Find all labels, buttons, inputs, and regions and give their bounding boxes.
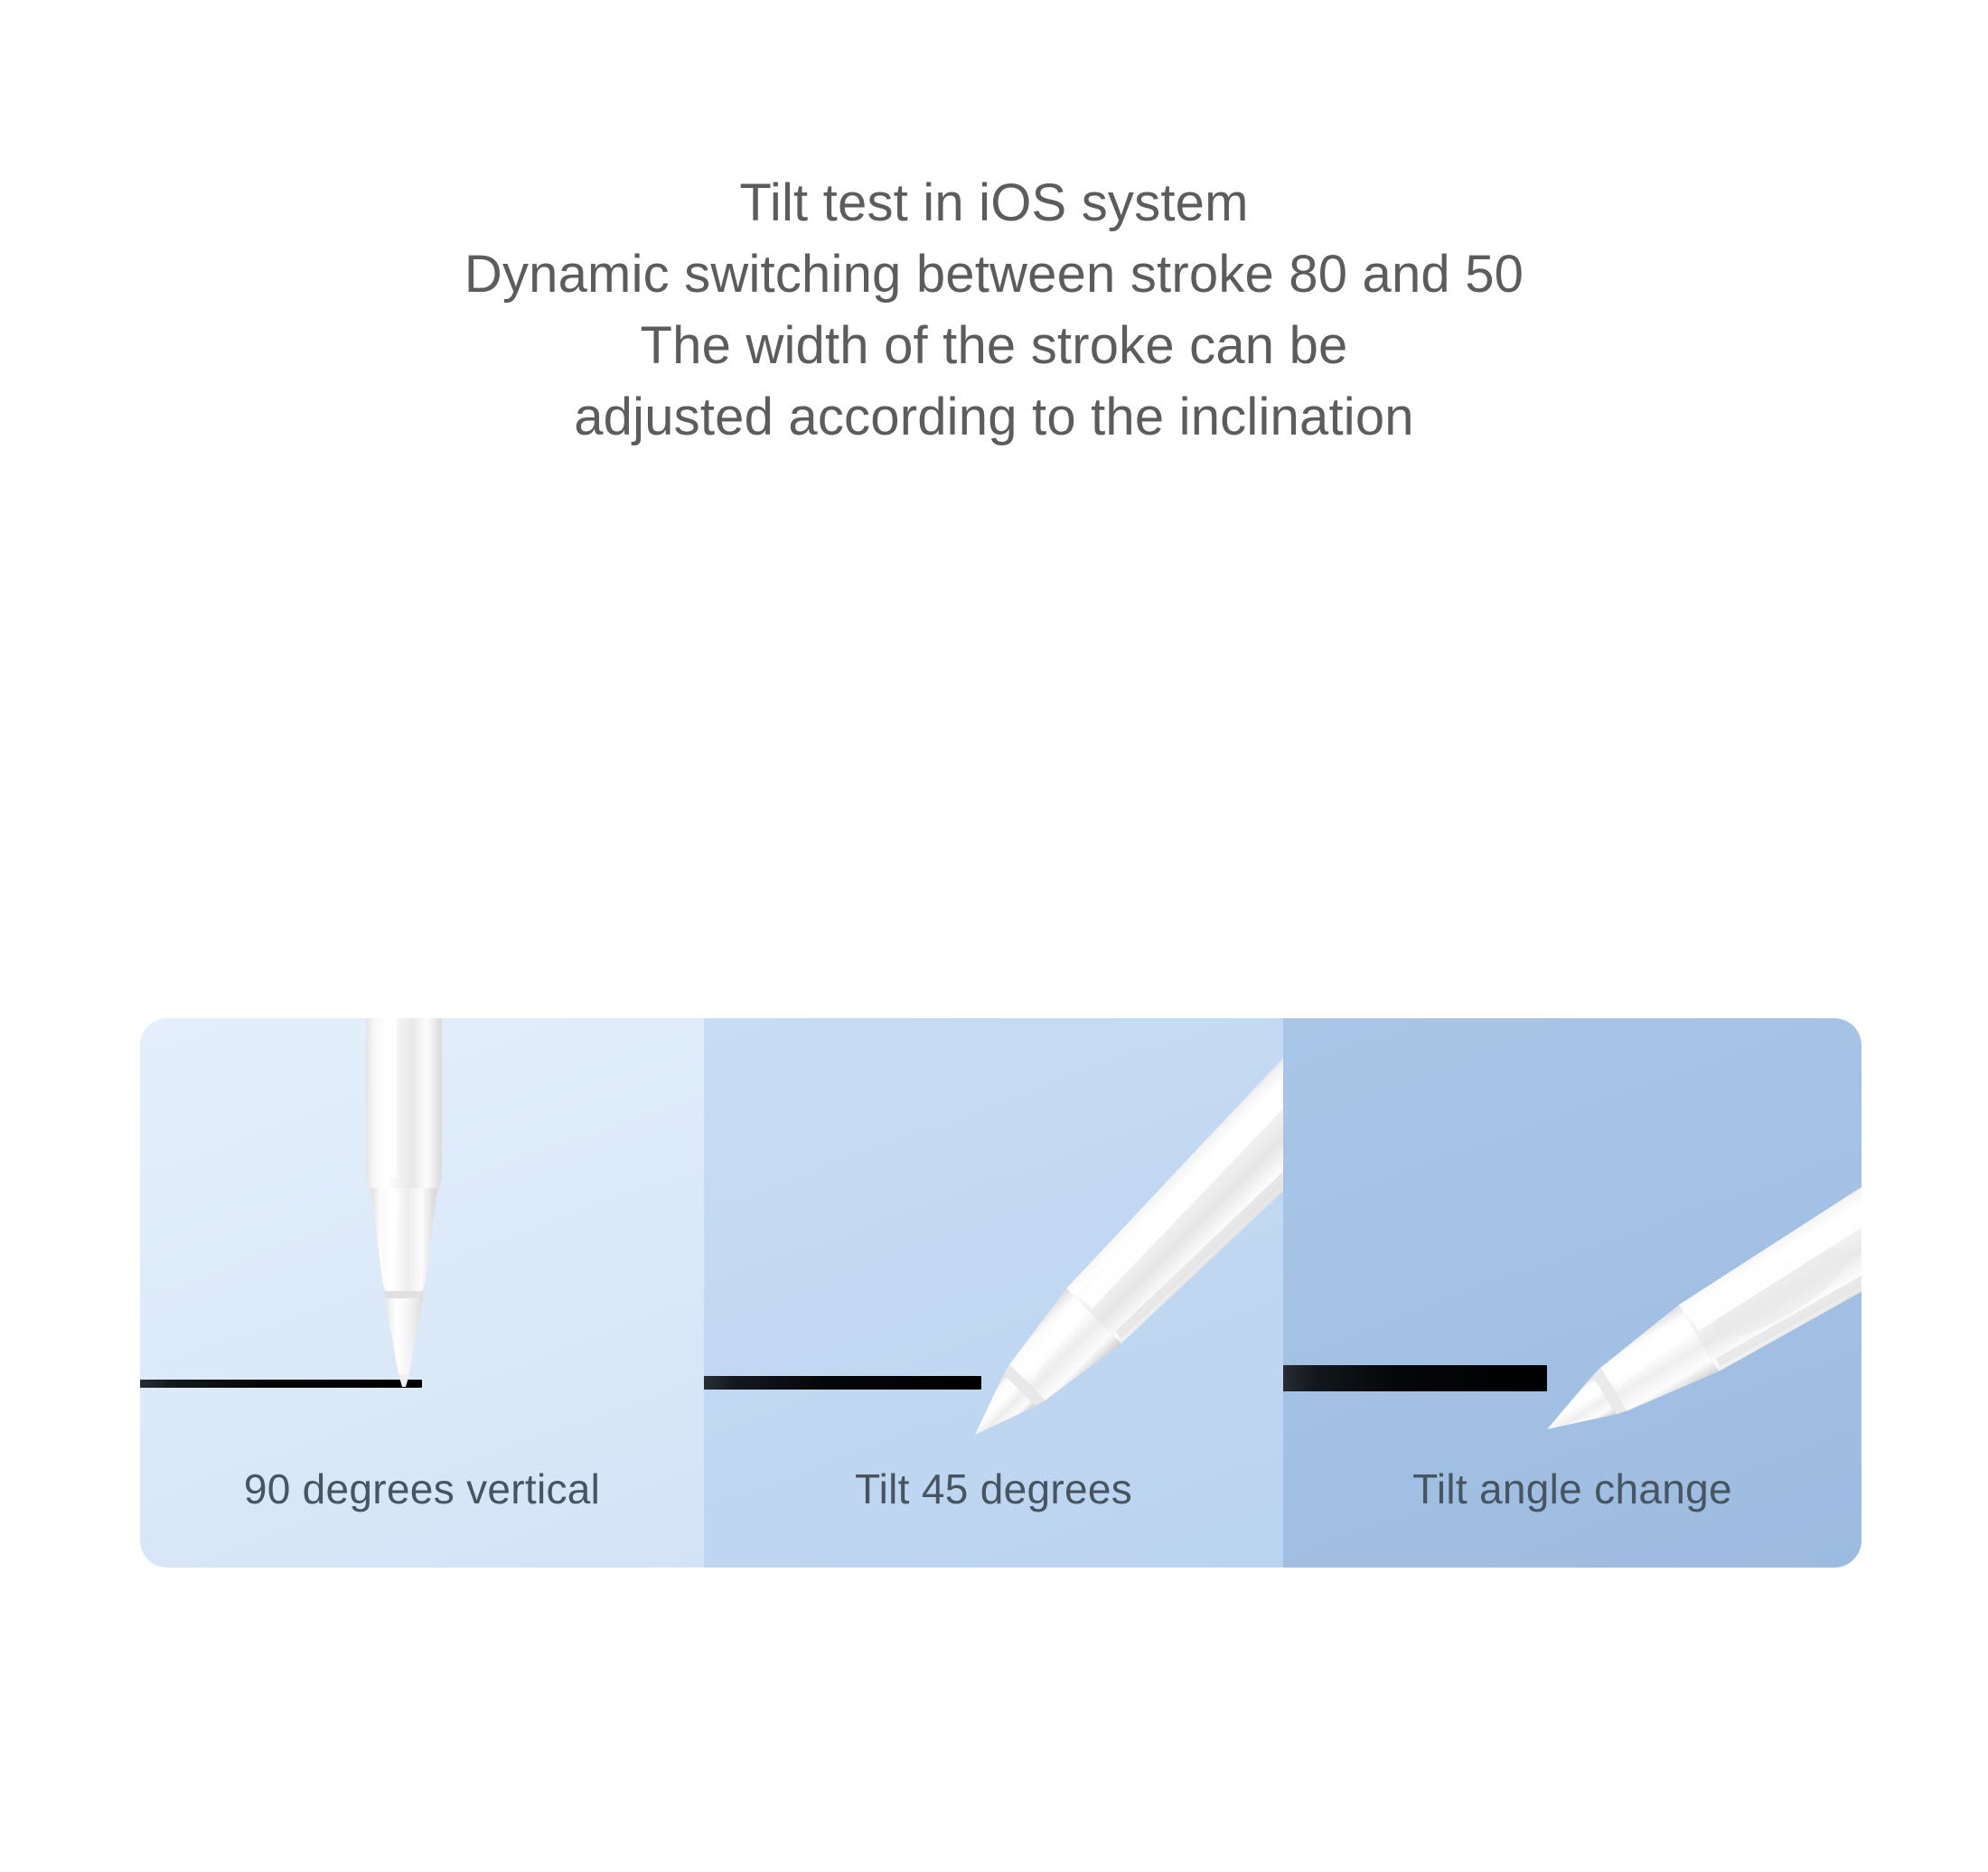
headline-line-3: The width of the stroke can be	[0, 310, 1988, 381]
stylus-tilted-shallow-icon	[1518, 1054, 1861, 1478]
drawn-stroke-thick	[1283, 1365, 1547, 1391]
panel-label-90-degrees-vertical: 90 degrees vertical	[140, 1465, 704, 1513]
drawn-stroke-medium	[704, 1376, 981, 1390]
stylus-vertical-icon	[350, 1018, 458, 1389]
panel-tilt-45-degrees: Tilt 45 degrees	[704, 1018, 1283, 1568]
tilt-demo-panel-group: 90 degrees vertical	[140, 1018, 1861, 1568]
headline-line-4: adjusted according to the inclination	[0, 381, 1988, 453]
headline-line-1: Tilt test in iOS system	[0, 167, 1988, 239]
panel-label-tilt-45-degrees: Tilt 45 degrees	[704, 1465, 1283, 1513]
headline-line-2: Dynamic switching between stroke 80 and …	[0, 239, 1988, 310]
panel-90-degrees-vertical: 90 degrees vertical	[140, 1018, 704, 1568]
panel-label-tilt-angle-change: Tilt angle change	[1283, 1465, 1861, 1513]
panel-tilt-angle-change: Tilt angle change	[1283, 1018, 1861, 1568]
stylus-tilted-45-icon	[934, 1018, 1283, 1475]
headline-block: Tilt test in iOS system Dynamic switchin…	[0, 167, 1988, 453]
